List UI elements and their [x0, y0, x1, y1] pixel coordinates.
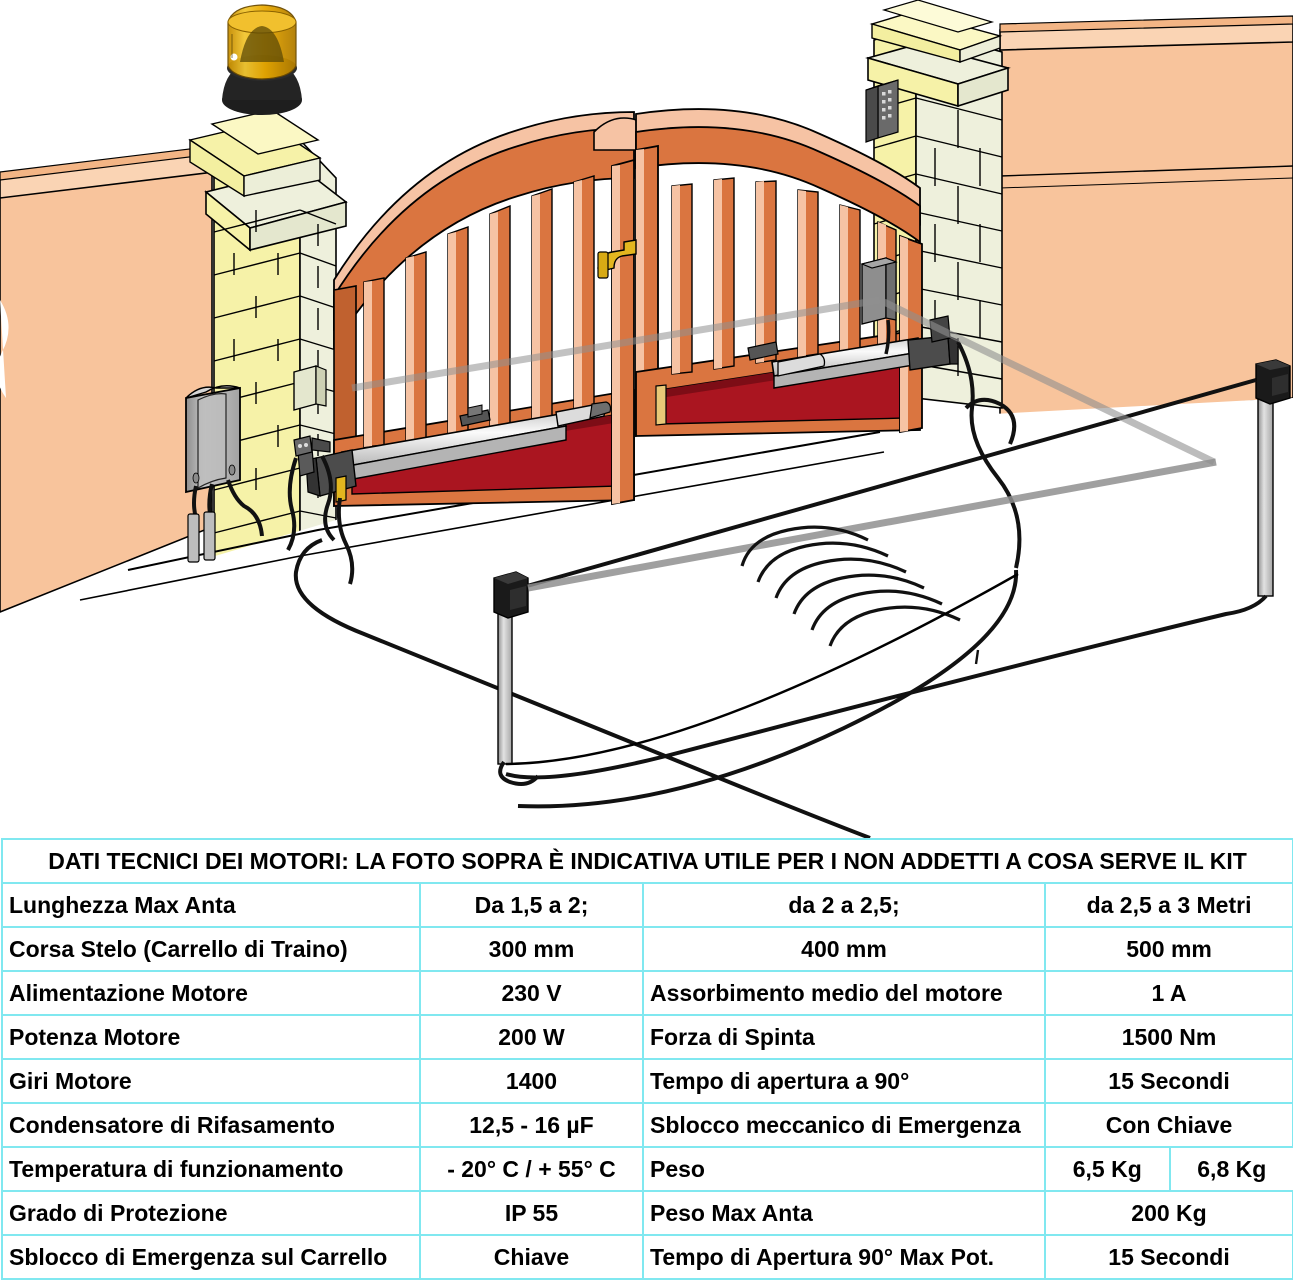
table-header-row: DATI TECNICI DEI MOTORI: LA FOTO SOPRA È… [2, 839, 1293, 883]
row-label: Giri Motore [2, 1059, 420, 1103]
row-value-c4: 15 Secondi [1045, 1059, 1293, 1103]
row-value-split: 6,5 Kg 6,8 Kg [1045, 1147, 1293, 1191]
row-value-c3: 400 mm [643, 927, 1045, 971]
table-row: Alimentazione Motore 230 V Assorbimento … [2, 971, 1293, 1015]
row-label-c3: Peso Max Anta [643, 1191, 1045, 1235]
row-label: Corsa Stelo (Carrello di Traino) [2, 927, 420, 971]
row-value-c4: 200 Kg [1045, 1191, 1293, 1235]
row-value-c5: 6,8 Kg [1170, 1148, 1293, 1190]
table-title: DATI TECNICI DEI MOTORI: LA FOTO SOPRA È… [2, 839, 1293, 883]
technical-data-table-container: DATI TECNICI DEI MOTORI: LA FOTO SOPRA È… [0, 838, 1293, 1281]
row-value-c4: Con Chiave [1045, 1103, 1293, 1147]
row-value-c2: 300 mm [420, 927, 643, 971]
row-value-c4: 1 A [1045, 971, 1293, 1015]
row-label: Lunghezza Max Anta [2, 883, 420, 927]
table-row-peso: Temperatura di funzionamento - 20° C / +… [2, 1147, 1293, 1191]
row-value-c2: 1400 [420, 1059, 643, 1103]
row-value-c4: 500 mm [1045, 927, 1293, 971]
row-label-c3: Peso [643, 1147, 1045, 1191]
row-value-c4: 6,5 Kg [1046, 1148, 1170, 1190]
row-value-c2: 12,5 - 16 µF [420, 1103, 643, 1147]
row-value-c4: da 2,5 a 3 Metri [1045, 883, 1293, 927]
table-row: Condensatore di Rifasamento 12,5 - 16 µF… [2, 1103, 1293, 1147]
table-row: Giri Motore 1400 Tempo di apertura a 90°… [2, 1059, 1293, 1103]
row-label-c3: Sblocco meccanico di Emergenza [643, 1103, 1045, 1147]
table-row: Grado di Protezione IP 55 Peso Max Anta … [2, 1191, 1293, 1235]
row-value-c2: 230 V [420, 971, 643, 1015]
row-value-c2: Da 1,5 a 2; [420, 883, 643, 927]
row-label-c3: Forza di Spinta [643, 1015, 1045, 1059]
technical-data-table: DATI TECNICI DEI MOTORI: LA FOTO SOPRA È… [1, 838, 1293, 1280]
table-row: Sblocco di Emergenza sul Carrello Chiave… [2, 1235, 1293, 1279]
row-label: Temperatura di funzionamento [2, 1147, 420, 1191]
row-value-c3: da 2 a 2,5; [643, 883, 1045, 927]
row-label: Sblocco di Emergenza sul Carrello [2, 1235, 420, 1279]
row-label-c3: Tempo di Apertura 90° Max Pot. [643, 1235, 1045, 1279]
row-value-c4: 15 Secondi [1045, 1235, 1293, 1279]
table-row: Lunghezza Max Anta Da 1,5 a 2; da 2 a 2,… [2, 883, 1293, 927]
row-label: Potenza Motore [2, 1015, 420, 1059]
row-label: Alimentazione Motore [2, 971, 420, 1015]
table-row: Potenza Motore 200 W Forza di Spinta 150… [2, 1015, 1293, 1059]
row-value-c2: 200 W [420, 1015, 643, 1059]
row-value-c2: IP 55 [420, 1191, 643, 1235]
row-value-c4: 1500 Nm [1045, 1015, 1293, 1059]
keypad-icon [866, 80, 898, 142]
row-label: Condensatore di Rifasamento [2, 1103, 420, 1147]
row-value-c2: Chiave [420, 1235, 643, 1279]
table-row: Corsa Stelo (Carrello di Traino) 300 mm … [2, 927, 1293, 971]
right-wall [1000, 16, 1293, 420]
row-label-c3: Tempo di apertura a 90° [643, 1059, 1045, 1103]
row-label-c3: Assorbimento medio del motore [643, 971, 1045, 1015]
row-label: Grado di Protezione [2, 1191, 420, 1235]
row-value-c2: - 20° C / + 55° C [420, 1147, 643, 1191]
gate-installation-illustration [0, 0, 1293, 838]
flashing-beacon [222, 5, 302, 115]
